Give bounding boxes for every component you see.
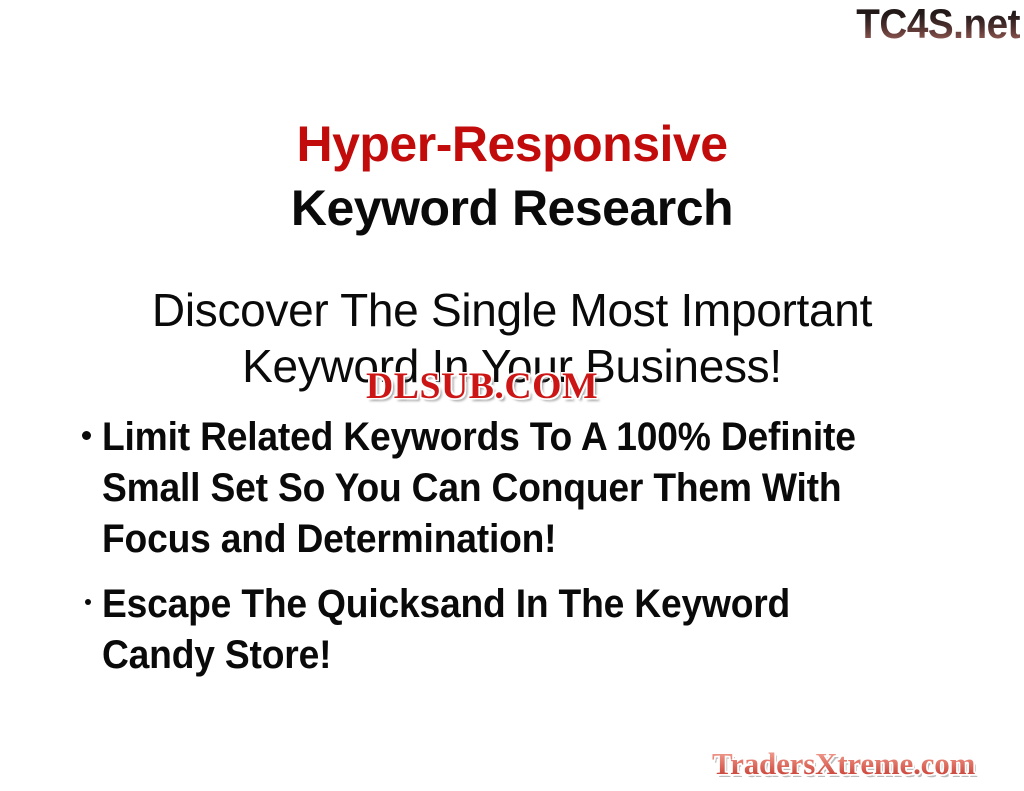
- slide-title: Hyper-Responsive Keyword Research: [0, 112, 1024, 240]
- bullet-text: Escape The Quicksand In The Keyword Cand…: [102, 579, 894, 681]
- brand-logo-tc4s: TC4S.net: [856, 2, 1020, 46]
- list-item: Escape The Quicksand In The Keyword Cand…: [74, 579, 954, 681]
- bullet-text: Limit Related Keywords To A 100% Definit…: [102, 412, 894, 565]
- title-line-keyword-research: Keyword Research: [0, 176, 1024, 240]
- bullet-list: Limit Related Keywords To A 100% Definit…: [74, 412, 954, 695]
- bullet-dot-icon: [85, 599, 91, 605]
- watermark-dlsub: DLSUB.COM: [366, 368, 598, 405]
- title-line-hyper-responsive: Hyper-Responsive: [0, 112, 1024, 176]
- presentation-slide: TC4S.net Hyper-Responsive Keyword Resear…: [0, 0, 1024, 791]
- bullet-dot-icon: [82, 431, 91, 440]
- watermark-tradersxtreme: TradersXtreme.com TradersXtreme.com Trad…: [712, 747, 975, 780]
- list-item: Limit Related Keywords To A 100% Definit…: [74, 412, 954, 565]
- watermark-fill-layer: TradersXtreme.com: [712, 746, 975, 781]
- subtitle-line-1: Discover The Single Most Important: [62, 282, 962, 338]
